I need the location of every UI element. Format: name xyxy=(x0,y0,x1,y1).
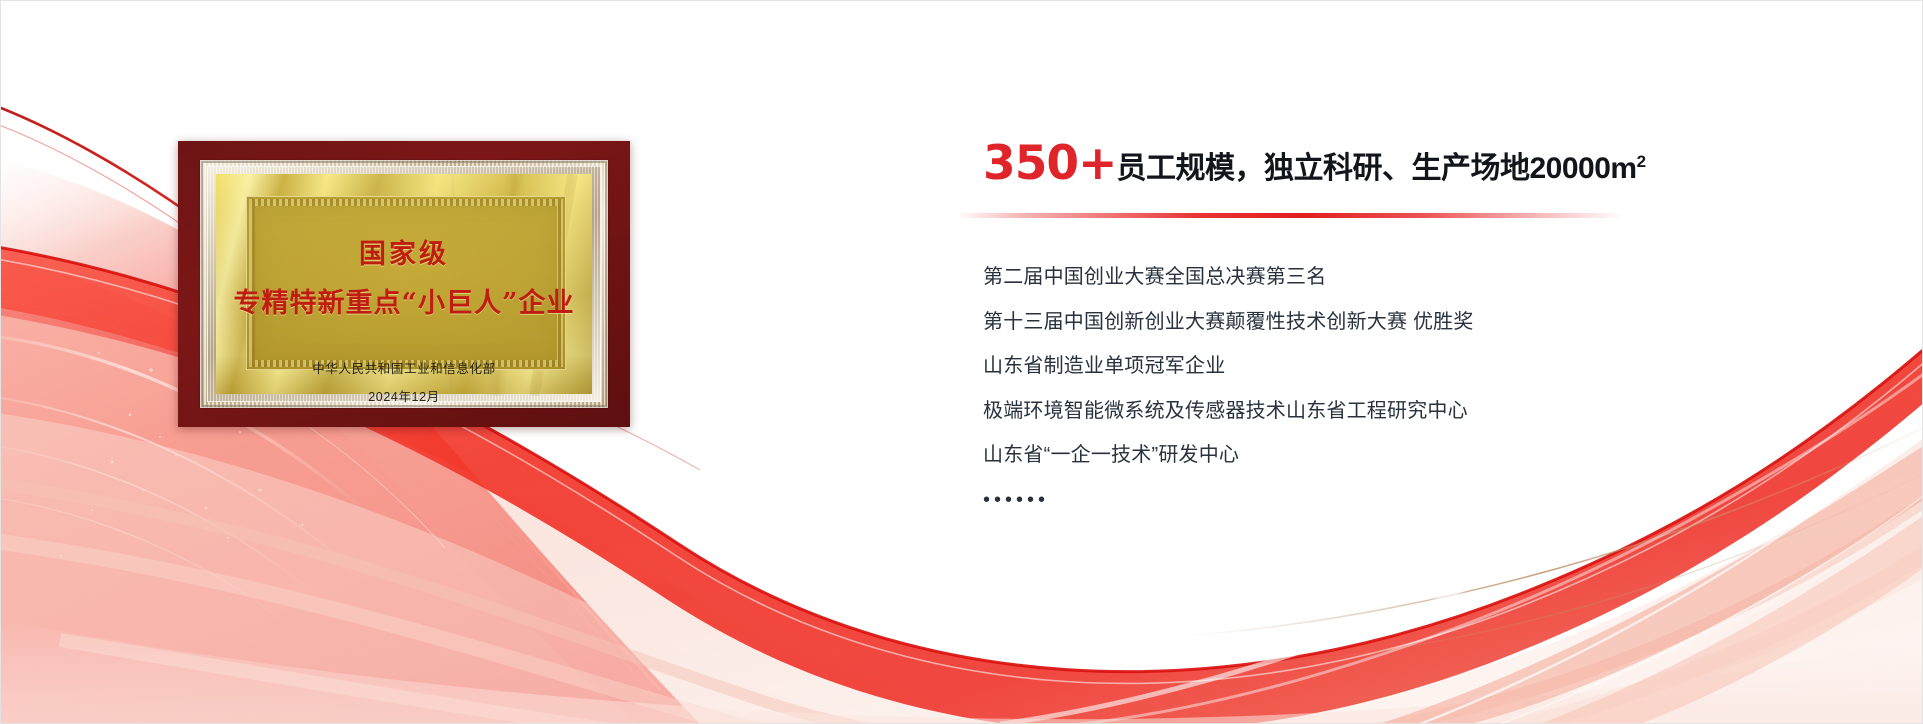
plaque-silver-frame: 国家级 专精特新重点“小巨人”企业 中华人民共和国工业和信息化部 2024年12… xyxy=(200,160,608,408)
banner-content: 350+ 员工规模，独立科研、生产场地20000m 2 第二届中国创业大赛全国总… xyxy=(983,140,1883,187)
list-item: 第十三届中国创新创业大赛颠覆性技术创新大赛 优胜奖 xyxy=(983,312,1883,332)
plaque-title-line2: 专精特新重点“小巨人”企业 xyxy=(233,281,574,320)
award-plaque: 国家级 专精特新重点“小巨人”企业 中华人民共和国工业和信息化部 2024年12… xyxy=(178,141,630,427)
award-list: 第二届中国创业大赛全国总决赛第三名 第十三届中国创新创业大赛颠覆性技术创新大赛 … xyxy=(983,267,1883,510)
promo-banner: 国家级 专精特新重点“小巨人”企业 中华人民共和国工业和信息化部 2024年12… xyxy=(0,0,1923,724)
list-item: 第二届中国创业大赛全国总决赛第三名 xyxy=(983,267,1883,287)
plaque-date: 2024年12月 xyxy=(368,386,440,405)
headline-superscript: 2 xyxy=(1637,153,1646,170)
list-item: 山东省制造业单项冠军企业 xyxy=(983,356,1883,376)
plaque-issuer: 中华人民共和国工业和信息化部 xyxy=(312,358,495,377)
headline-number: 350+ xyxy=(983,140,1117,187)
headline-text: 员工规模，独立科研、生产场地20000m xyxy=(1117,154,1637,184)
headline-divider xyxy=(956,213,1624,218)
plaque-gold-plate: 国家级 专精特新重点“小巨人”企业 中华人民共和国工业和信息化部 2024年12… xyxy=(216,174,592,394)
plaque-title-line1: 国家级 xyxy=(359,232,449,271)
headline: 350+ 员工规模，独立科研、生产场地20000m 2 xyxy=(983,140,1883,187)
list-item: 极端环境智能微系统及传感器技术山东省工程研究中心 xyxy=(983,401,1883,421)
ellipsis-indicator: •••••• xyxy=(983,490,1883,510)
list-item: 山东省“一企一技术”研发中心 xyxy=(983,445,1883,465)
